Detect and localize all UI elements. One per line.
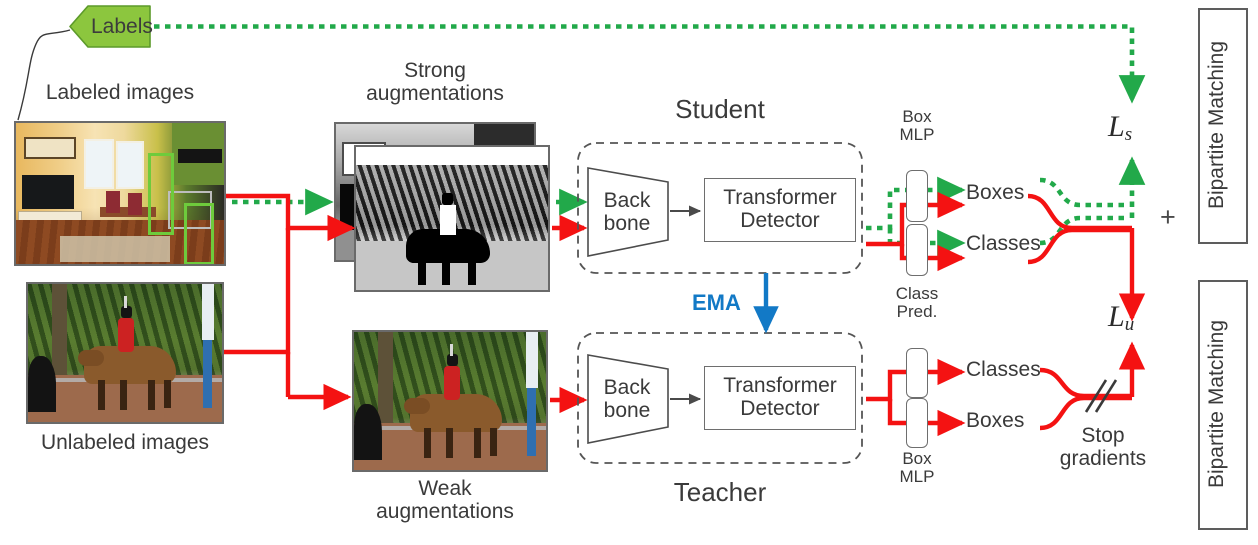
student-box-mlp-label: Box MLP [880,108,954,145]
labels-tag-text[interactable]: Labels [91,15,153,39]
loss-s-script: L [1108,110,1125,143]
loss-sum-plus: + [1160,202,1176,233]
loss-u-script: L [1108,300,1125,333]
teacher-backbone-label: Back bone [590,377,664,422]
labels-to-supervised-loss-path [154,27,1132,101]
student-backbone-label: Back bone [590,190,664,235]
ema-label: EMA [692,290,741,316]
student-output-boxes-label: Boxes [966,182,1056,205]
unsupervised-loss-symbol: Lu [1108,300,1134,336]
teacher-transformer-detector-box[interactable]: Transformer Detector [704,366,856,430]
diagram-canvas: Transformer Detector Transformer Detecto… [0,0,1258,545]
tag-leader-line [18,30,70,120]
student-class-pred-cell [906,224,928,276]
bipartite-matching-bottom-label: Bipartite Matching [1205,320,1229,488]
bipartite-matching-box-top[interactable]: Bipartite Matching [1198,8,1248,244]
unlabeled-branch-up-path [224,228,288,352]
student-title: Student [620,95,820,123]
teacher-title: Teacher [620,478,820,506]
strong-augmentations-label: Strong augmentations [330,60,540,105]
student-transformer-detector-box[interactable]: Transformer Detector [704,178,856,242]
bipartite-matching-top-label: Bipartite Matching [1205,41,1229,209]
weak-augmentations-label: Weak augmentations [340,478,550,523]
stop-gradients-label: Stop gradients [1038,425,1168,470]
loss-s-subscript: s [1125,124,1132,145]
teacher-class-pred-cell [906,348,928,398]
teacher-box-mlp-cell [906,398,928,448]
bipartite-matching-box-bottom[interactable]: Bipartite Matching [1198,280,1248,530]
teacher-output-classes-label: Classes [966,359,1066,382]
student-box-mlp-cell [906,170,928,222]
teacher-box-mlp-label: Box MLP [880,450,954,487]
student-class-pred-label: Class Pred. [880,285,954,322]
student-output-classes-label: Classes [966,233,1066,256]
loss-u-subscript: u [1125,314,1135,335]
unlabeled-images-caption: Unlabeled images [10,432,240,455]
supervised-loss-symbol: Ls [1108,110,1132,146]
labeled-images-caption: Labeled images [10,82,230,105]
